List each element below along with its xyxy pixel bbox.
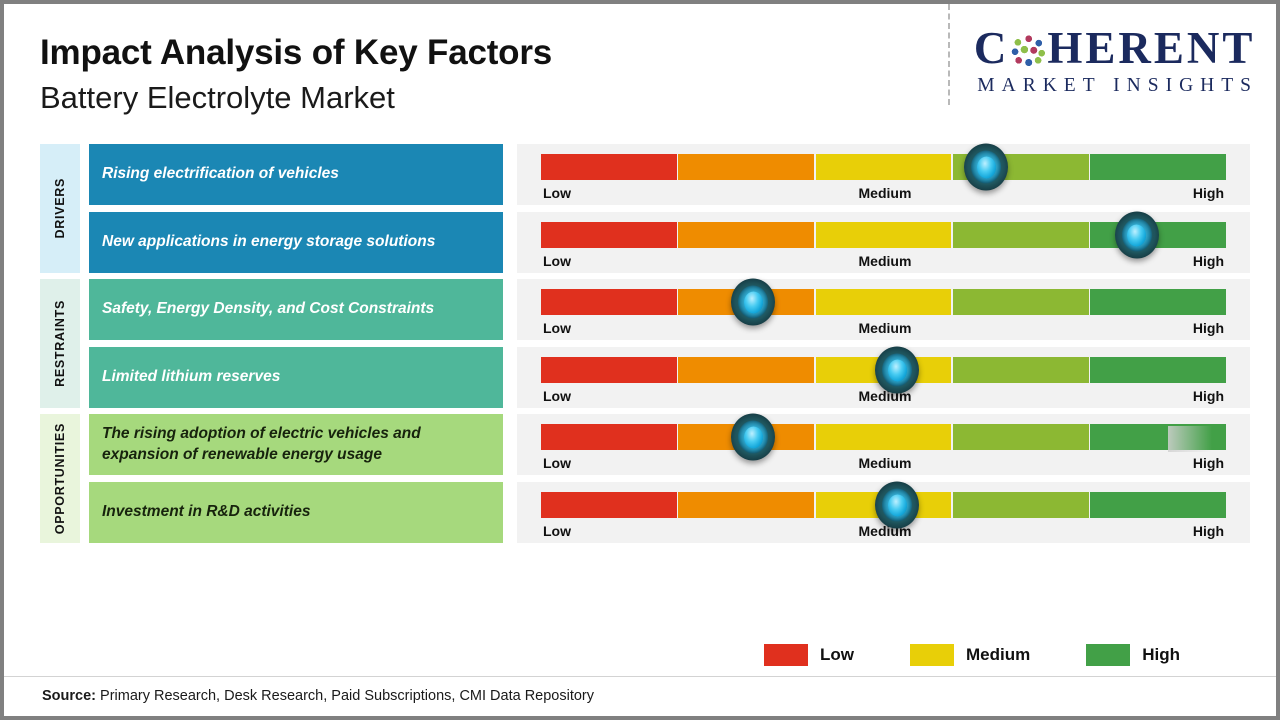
gauge-marker[interactable]: [875, 482, 919, 529]
gauge-panel: Low Medium High: [517, 212, 1250, 273]
factor-label: Investment in R&D activities: [102, 502, 310, 523]
gauge-panel: Low Medium High: [517, 482, 1250, 543]
factor-label: New applications in energy storage solut…: [102, 232, 435, 253]
gauge-segment-low-medium: [678, 222, 814, 248]
footer-divider: [4, 676, 1276, 677]
gauge-bar: [541, 154, 1226, 180]
category-label-restraints: RESTRAINTS: [40, 279, 80, 408]
gauge-segment-medium: [816, 154, 952, 180]
scale-label-low: Low: [543, 523, 571, 539]
gauge-segment-medium: [816, 222, 952, 248]
gauge-segment-medium: [816, 424, 952, 450]
gauge-segment-high: [1090, 357, 1226, 383]
category-label-drivers: DRIVERS: [40, 144, 80, 273]
logo-tagline: MARKET INSIGHTS: [971, 75, 1258, 97]
group-drivers: DRIVERS Rising electrification of vehicl…: [40, 144, 1250, 273]
legend-swatch-medium: [910, 644, 954, 666]
header: Impact Analysis of Key Factors Battery E…: [4, 4, 1276, 132]
scale-label-high: High: [1193, 320, 1224, 336]
scale-label-medium: Medium: [859, 253, 912, 269]
gauge-bar: [541, 357, 1226, 383]
gauge-segment-high: [1090, 492, 1226, 518]
rows-drivers: Rising electrification of vehicles: [89, 144, 1250, 273]
scale-label-medium: Medium: [859, 320, 912, 336]
gauge-bar: [541, 492, 1226, 518]
scale-label-low: Low: [543, 320, 571, 336]
table-row: Investment in R&D activities: [89, 482, 1250, 543]
gauge-segment-medium-high: [953, 492, 1089, 518]
table-row: Safety, Energy Density, and Cost Constra…: [89, 279, 1250, 340]
gauge-scale: Low Medium High: [541, 455, 1226, 471]
gauge-segment-low: [541, 289, 677, 315]
gauge-scale: Low Medium High: [541, 523, 1226, 539]
scale-label-high: High: [1193, 185, 1224, 201]
legend-label-low: Low: [820, 645, 854, 665]
factor-card[interactable]: Investment in R&D activities: [89, 482, 503, 543]
dotted-globe-icon: [1010, 33, 1046, 69]
impact-matrix: DRIVERS Rising electrification of vehicl…: [40, 144, 1250, 549]
scale-label-high: High: [1193, 523, 1224, 539]
legend-swatch-low: [764, 644, 808, 666]
gauge-segment-low: [541, 357, 677, 383]
gauge-segment-medium-high: [953, 289, 1089, 315]
table-row: Limited lithium reserves: [89, 347, 1250, 408]
gauge-segment-low-medium: [678, 492, 814, 518]
page-subtitle: Battery Electrolyte Market: [40, 78, 552, 118]
gauge-marker[interactable]: [731, 279, 775, 326]
legend-item-high: High: [1086, 644, 1180, 666]
source-note: Source: Primary Research, Desk Research,…: [42, 688, 594, 704]
scale-label-low: Low: [543, 185, 571, 201]
title-block: Impact Analysis of Key Factors Battery E…: [40, 32, 552, 119]
gauge-segment-high: [1090, 289, 1226, 315]
scale-label-high: High: [1193, 388, 1224, 404]
rows-restraints: Safety, Energy Density, and Cost Constra…: [89, 279, 1250, 408]
gauge-panel: Low Medium High: [517, 144, 1250, 205]
gauge-segment-low-medium: [678, 154, 814, 180]
company-logo: C HERENT MARKET INSIGHTS: [971, 26, 1258, 97]
gauge-marker[interactable]: [875, 347, 919, 394]
logo-wordmark: C HERENT: [971, 26, 1258, 71]
gauge-segment-medium-high: [953, 424, 1089, 450]
factor-card[interactable]: Limited lithium reserves: [89, 347, 503, 408]
scale-label-low: Low: [543, 253, 571, 269]
scale-label-medium: Medium: [859, 455, 912, 471]
gauge-scale: Low Medium High: [541, 320, 1226, 336]
gauge-marker[interactable]: [731, 414, 775, 461]
category-label-opportunities: OPPORTUNITIES: [40, 414, 80, 543]
factor-card[interactable]: Rising electrification of vehicles: [89, 144, 503, 205]
factor-label: Rising electrification of vehicles: [102, 164, 339, 185]
scale-label-low: Low: [543, 388, 571, 404]
factor-label: Limited lithium reserves: [102, 367, 280, 388]
gauge-segment-medium-high: [953, 222, 1089, 248]
gauge-segment-low-medium: [678, 357, 814, 383]
gauge-scale: Low Medium High: [541, 253, 1226, 269]
factor-label: Safety, Energy Density, and Cost Constra…: [102, 299, 434, 320]
legend-label-high: High: [1142, 645, 1180, 665]
rows-opportunities: The rising adoption of electric vehicles…: [89, 414, 1250, 543]
factor-card[interactable]: The rising adoption of electric vehicles…: [89, 414, 503, 475]
gauge-segment-medium: [816, 289, 952, 315]
scale-label-low: Low: [543, 455, 571, 471]
table-row: Rising electrification of vehicles: [89, 144, 1250, 205]
table-row: The rising adoption of electric vehicles…: [89, 414, 1250, 475]
gauge-marker[interactable]: [1115, 212, 1159, 259]
gauge-bar: [541, 424, 1226, 450]
gauge-bar: [541, 222, 1226, 248]
scale-label-high: High: [1193, 253, 1224, 269]
factor-card[interactable]: New applications in energy storage solut…: [89, 212, 503, 273]
scale-label-high: High: [1193, 455, 1224, 471]
gauge-segment-low: [541, 492, 677, 518]
legend-item-low: Low: [764, 644, 854, 666]
page-title: Impact Analysis of Key Factors: [40, 32, 552, 73]
scale-label-medium: Medium: [859, 185, 912, 201]
source-label: Source:: [42, 688, 96, 704]
group-restraints: RESTRAINTS Safety, Energy Density, and C…: [40, 279, 1250, 408]
gauge-segment-medium-high: [953, 357, 1089, 383]
table-row: New applications in energy storage solut…: [89, 212, 1250, 273]
gauge-scale: Low Medium High: [541, 388, 1226, 404]
gauge-panel: Low Medium High: [517, 279, 1250, 340]
gauge-segment-high: [1090, 154, 1226, 180]
legend-label-medium: Medium: [966, 645, 1030, 665]
gauge-segment-low: [541, 424, 677, 450]
legend-swatch-high: [1086, 644, 1130, 666]
factor-label: The rising adoption of electric vehicles…: [102, 424, 489, 466]
logo-divider: [948, 4, 950, 105]
gauge-panel: Low Medium High: [517, 414, 1250, 475]
slide-canvas: Impact Analysis of Key Factors Battery E…: [0, 0, 1280, 720]
logo-letter-c: C: [974, 26, 1010, 71]
gauge-scale: Low Medium High: [541, 185, 1226, 201]
gauge-panel: Low Medium High: [517, 347, 1250, 408]
legend-item-medium: Medium: [910, 644, 1030, 666]
source-text: Primary Research, Desk Research, Paid Su…: [96, 688, 594, 704]
logo-letters-herent: HERENT: [1047, 26, 1255, 71]
group-opportunities: OPPORTUNITIES The rising adoption of ele…: [40, 414, 1250, 543]
chart-legend: Low Medium High: [764, 644, 1180, 666]
gauge-segment-high: [1090, 424, 1226, 450]
gauge-bar: [541, 289, 1226, 315]
factor-card[interactable]: Safety, Energy Density, and Cost Constra…: [89, 279, 503, 340]
gauge-marker[interactable]: [964, 144, 1008, 191]
gauge-segment-low: [541, 154, 677, 180]
gauge-segment-low: [541, 222, 677, 248]
